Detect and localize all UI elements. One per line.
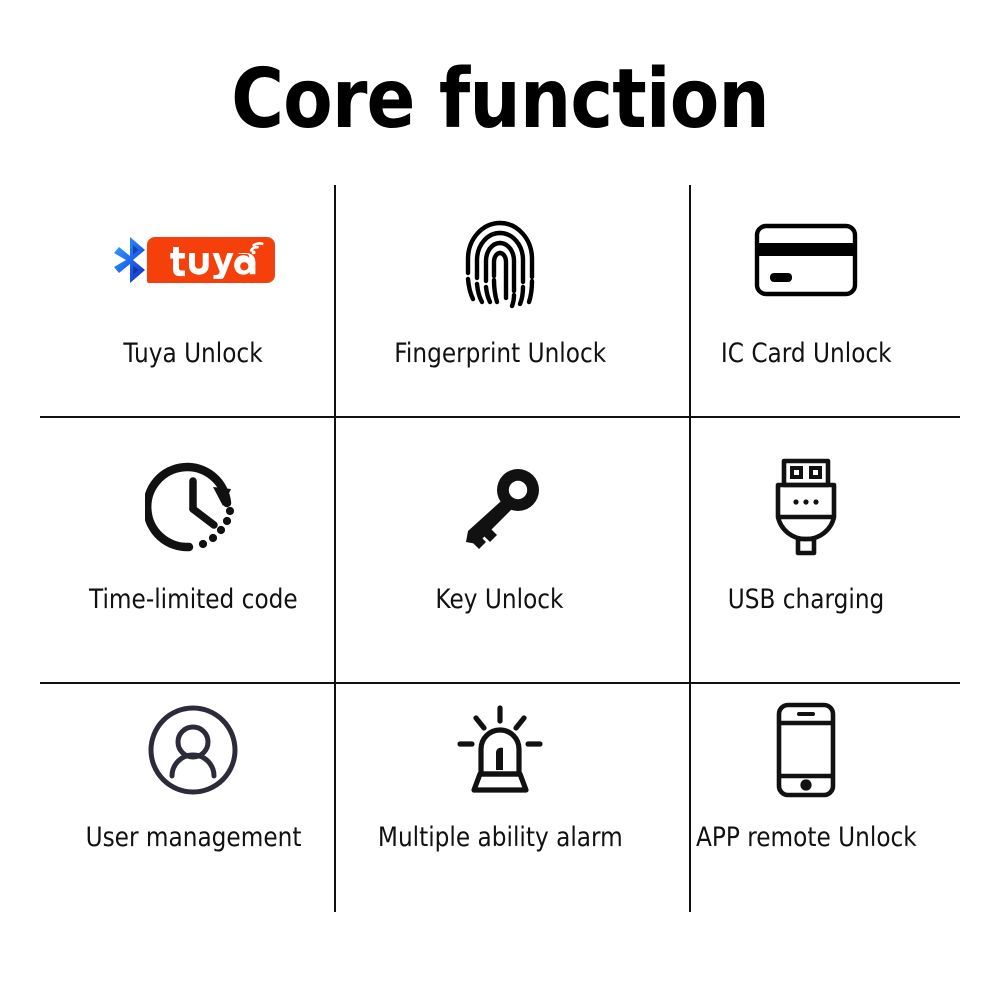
tuya-wordmark-icon bbox=[169, 241, 265, 279]
feature-cell-user-management[interactable]: User management bbox=[40, 669, 347, 911]
feature-label: USB charging bbox=[728, 585, 885, 615]
feature-cell-tuya-unlock[interactable]: Tuya Unlock bbox=[40, 185, 347, 427]
feature-cell-ic-card-unlock[interactable]: IC Card Unlock bbox=[653, 185, 960, 427]
icon-container bbox=[145, 427, 241, 565]
usb-connector-icon bbox=[770, 457, 842, 557]
feature-label: APP remote Unlock bbox=[696, 823, 917, 853]
feature-row-1: Tuya Unlock bbox=[40, 185, 960, 427]
tuya-wordmark-badge bbox=[147, 237, 275, 283]
feature-cell-multiple-ability-alarm[interactable]: Multiple ability alarm bbox=[347, 669, 654, 911]
key-icon bbox=[453, 460, 547, 554]
clock-arrow-dotted-icon bbox=[145, 459, 241, 555]
ic-card-icon bbox=[754, 223, 858, 297]
icon-container bbox=[775, 669, 837, 807]
feature-label: Multiple ability alarm bbox=[377, 823, 622, 853]
icon-container bbox=[146, 669, 240, 807]
bluetooth-icon bbox=[111, 235, 155, 285]
icon-container bbox=[111, 185, 275, 317]
feature-label: Key Unlock bbox=[436, 585, 564, 615]
icon-container bbox=[454, 185, 546, 317]
user-circle-icon bbox=[146, 703, 240, 797]
feature-cell-fingerprint-unlock[interactable]: Fingerprint Unlock bbox=[347, 185, 654, 427]
icon-container bbox=[453, 427, 547, 565]
feature-grid: Tuya Unlock bbox=[40, 185, 960, 910]
smartphone-icon bbox=[775, 702, 837, 798]
icon-container bbox=[454, 669, 546, 807]
feature-cell-time-limited-code[interactable]: Time-limited code bbox=[40, 427, 347, 669]
feature-label: Fingerprint Unlock bbox=[394, 339, 606, 369]
feature-label: Tuya Unlock bbox=[124, 339, 263, 369]
fingerprint-icon bbox=[454, 209, 546, 311]
feature-row-3: User management bbox=[40, 669, 960, 911]
feature-cell-usb-charging[interactable]: USB charging bbox=[653, 427, 960, 669]
tuya-bluetooth-logo-icon bbox=[111, 232, 275, 288]
feature-row-2: Time-limited code bbox=[40, 427, 960, 669]
icon-container bbox=[770, 427, 842, 565]
feature-label: User management bbox=[85, 823, 301, 853]
feature-label: Time-limited code bbox=[89, 585, 298, 615]
page-title: Core function bbox=[60, 52, 940, 148]
feature-label: IC Card Unlock bbox=[721, 339, 892, 369]
core-function-page: Core function bbox=[0, 0, 1000, 1000]
feature-cell-app-remote-unlock[interactable]: APP remote Unlock bbox=[653, 669, 960, 911]
siren-alarm-icon bbox=[454, 704, 546, 796]
icon-container bbox=[754, 185, 858, 317]
feature-cell-key-unlock[interactable]: Key Unlock bbox=[347, 427, 654, 669]
